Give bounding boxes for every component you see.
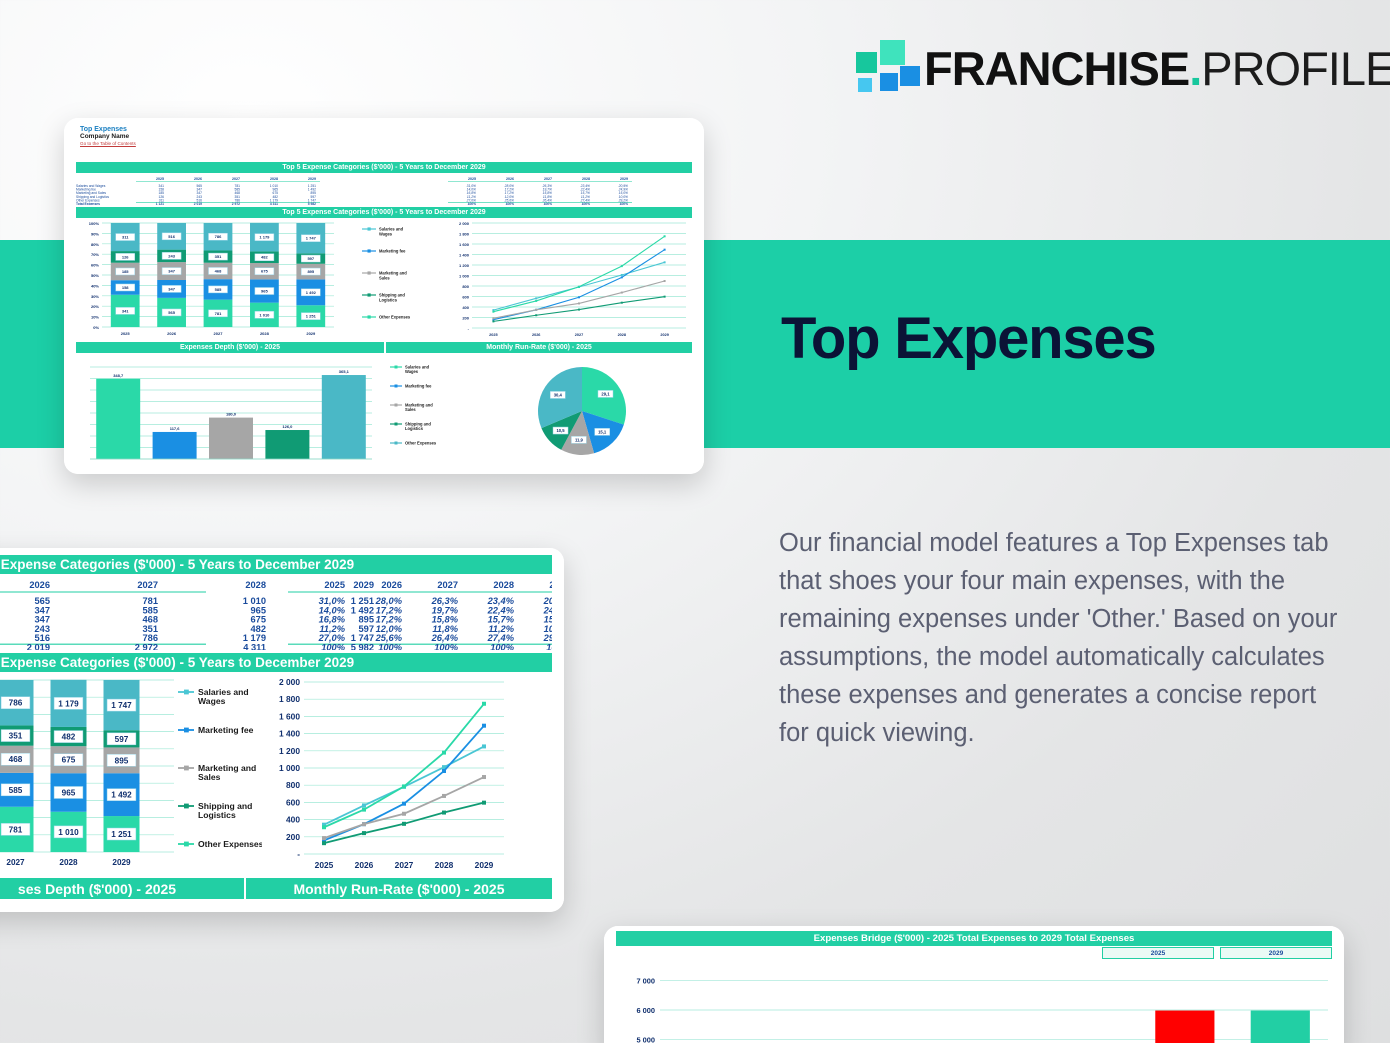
svg-text:2028: 2028 xyxy=(582,177,590,181)
bridge-legend-2025: 2025 xyxy=(1102,947,1214,959)
svg-text:482: 482 xyxy=(62,733,76,742)
svg-text:1 492: 1 492 xyxy=(111,791,132,800)
svg-text:2029: 2029 xyxy=(549,580,552,590)
svg-text:2028: 2028 xyxy=(618,333,626,337)
brand-logo: FRANCHISE.PROFILES xyxy=(852,38,1346,100)
svg-text:781: 781 xyxy=(215,311,222,316)
expense-table: 2026202720282029202520262027202820295657… xyxy=(0,576,552,650)
svg-text:70%: 70% xyxy=(91,252,99,257)
svg-text:1 179: 1 179 xyxy=(58,699,79,708)
svg-text:1 492: 1 492 xyxy=(306,290,317,295)
svg-text:6 000: 6 000 xyxy=(637,1006,656,1015)
svg-text:781: 781 xyxy=(9,825,23,834)
svg-text:2027: 2027 xyxy=(137,580,158,590)
svg-text:347: 347 xyxy=(168,268,175,273)
svg-text:786: 786 xyxy=(215,234,222,239)
svg-text:2025: 2025 xyxy=(156,177,164,181)
svg-text:Other Expenses: Other Expenses xyxy=(198,839,262,849)
svg-text:365,1: 365,1 xyxy=(339,369,350,374)
svg-text:Marketing fee: Marketing fee xyxy=(405,384,432,389)
stacked-bar-chart-mini: 0%10%20%30%40%50%60%70%80%90%100%3411581… xyxy=(76,219,336,339)
svg-text:2027: 2027 xyxy=(232,177,240,181)
svg-text:2027: 2027 xyxy=(575,333,583,337)
svg-text:2025: 2025 xyxy=(324,580,345,590)
svg-text:Logistics: Logistics xyxy=(405,426,424,431)
band-expense-categories-table: Top 5 Expense Categories ($'000) - 5 Yea… xyxy=(76,162,692,173)
svg-text:1 251: 1 251 xyxy=(111,830,132,839)
svg-text:2026: 2026 xyxy=(355,860,374,870)
svg-text:2026: 2026 xyxy=(29,580,50,590)
svg-text:341: 341 xyxy=(122,308,129,313)
svg-text:1 600: 1 600 xyxy=(459,242,470,247)
svg-text:100%: 100% xyxy=(321,643,345,651)
svg-text:348,7: 348,7 xyxy=(113,373,124,378)
svg-text:597: 597 xyxy=(115,735,129,744)
svg-text:2029: 2029 xyxy=(660,333,668,337)
hero-body-text: Our financial model features a Top Expen… xyxy=(779,524,1339,752)
svg-text:965: 965 xyxy=(62,788,76,797)
svg-text:185: 185 xyxy=(122,269,129,274)
svg-text:100%: 100% xyxy=(434,643,458,651)
logo-square-1 xyxy=(856,52,877,73)
hero-title-wrap: Top Expenses xyxy=(781,310,1301,368)
svg-text:786: 786 xyxy=(9,699,23,708)
svg-text:2027: 2027 xyxy=(544,177,552,181)
svg-text:895: 895 xyxy=(307,269,314,274)
svg-text:2 000: 2 000 xyxy=(279,677,300,687)
svg-text:100%: 100% xyxy=(544,202,553,205)
svg-text:117,6: 117,6 xyxy=(170,426,181,431)
svg-text:100%: 100% xyxy=(546,643,552,651)
svg-text:1 251: 1 251 xyxy=(306,314,317,319)
svg-text:516: 516 xyxy=(168,234,175,239)
svg-text:482: 482 xyxy=(261,255,268,260)
svg-text:4 311: 4 311 xyxy=(243,643,266,651)
svg-text:15,1: 15,1 xyxy=(598,429,607,434)
svg-text:2028: 2028 xyxy=(245,580,266,590)
svg-text:2 019: 2 019 xyxy=(27,643,50,651)
svg-text:0%: 0% xyxy=(93,325,99,330)
svg-text:200: 200 xyxy=(286,832,300,842)
svg-text:1 600: 1 600 xyxy=(279,711,300,721)
svg-text:1 010: 1 010 xyxy=(259,312,270,317)
band-b-expenses-depth: ses Depth ($'000) - 2025 xyxy=(0,878,244,899)
band-expenses-bridge: Expenses Bridge ($'000) - 2025 Total Exp… xyxy=(616,931,1332,946)
svg-text:5 982: 5 982 xyxy=(351,643,374,651)
svg-text:Wages: Wages xyxy=(379,231,393,236)
stacked-bar-chart: 565347347243516202678158546835178620271 … xyxy=(0,676,174,876)
svg-text:2025: 2025 xyxy=(489,333,497,337)
svg-text:2028: 2028 xyxy=(260,331,270,336)
svg-text:1 000: 1 000 xyxy=(279,763,300,773)
svg-text:2027: 2027 xyxy=(214,331,224,336)
svg-text:10,5: 10,5 xyxy=(556,428,565,433)
svg-text:100%: 100% xyxy=(506,202,515,205)
svg-text:400: 400 xyxy=(286,815,300,825)
svg-text:600: 600 xyxy=(286,797,300,807)
svg-text:585: 585 xyxy=(215,287,222,292)
svg-text:800: 800 xyxy=(462,284,469,289)
svg-text:2026: 2026 xyxy=(506,177,514,181)
svg-text:Total Expenses: Total Expenses xyxy=(76,202,100,205)
band-monthly-run-rate: Monthly Run-Rate ($'000) - 2025 xyxy=(386,342,692,353)
svg-text:468: 468 xyxy=(215,268,222,273)
svg-text:100%: 100% xyxy=(490,643,514,651)
svg-text:20%: 20% xyxy=(91,304,99,309)
svg-text:311: 311 xyxy=(122,234,129,239)
svg-text:Wages: Wages xyxy=(198,696,226,706)
sheet-title: Top Expenses xyxy=(80,126,136,133)
svg-text:10%: 10% xyxy=(91,315,99,320)
svg-text:597: 597 xyxy=(307,256,314,261)
svg-text:800: 800 xyxy=(286,780,300,790)
svg-text:100%: 100% xyxy=(468,202,477,205)
svg-text:600: 600 xyxy=(462,294,469,299)
svg-text:100%: 100% xyxy=(89,221,100,226)
svg-text:2025: 2025 xyxy=(121,331,131,336)
svg-text:400: 400 xyxy=(462,305,469,310)
svg-text:-: - xyxy=(297,849,300,859)
svg-text:Logistics: Logistics xyxy=(198,810,236,820)
svg-text:30,4: 30,4 xyxy=(554,392,563,397)
svg-text:1 200: 1 200 xyxy=(279,746,300,756)
band-b-chart: Top 5 Expense Categories ($'000) - 5 Yea… xyxy=(0,653,552,672)
logo-mark-icon xyxy=(852,40,910,96)
svg-text:100%: 100% xyxy=(582,202,591,205)
svg-text:585: 585 xyxy=(9,786,23,795)
svg-text:4 311: 4 311 xyxy=(270,202,278,205)
svg-text:Wages: Wages xyxy=(405,369,419,374)
svg-text:2029: 2029 xyxy=(306,331,316,336)
svg-text:2029: 2029 xyxy=(308,177,316,181)
svg-text:-: - xyxy=(468,326,470,331)
svg-text:1 800: 1 800 xyxy=(459,231,470,236)
mini-expense-table: 2025202620272028202920252026202720282029… xyxy=(76,175,692,205)
sheet-header: Top Expenses Company Name Go to the Tabl… xyxy=(80,126,136,146)
svg-text:2026: 2026 xyxy=(532,333,540,337)
logo-wordmark: FRANCHISE.PROFILES xyxy=(924,38,1390,100)
svg-text:351: 351 xyxy=(9,732,23,741)
svg-text:675: 675 xyxy=(261,269,268,274)
svg-text:158: 158 xyxy=(122,285,129,290)
svg-text:2029: 2029 xyxy=(620,177,628,181)
page-title: Top Expenses xyxy=(781,310,1301,368)
svg-text:2 972: 2 972 xyxy=(232,202,240,205)
svg-text:351: 351 xyxy=(215,254,222,259)
logo-word-light: PROFILES xyxy=(1201,42,1390,95)
svg-text:80%: 80% xyxy=(91,242,99,247)
svg-text:2028: 2028 xyxy=(59,858,78,867)
svg-text:2029: 2029 xyxy=(112,858,131,867)
svg-text:1 179: 1 179 xyxy=(259,235,270,240)
svg-text:Other Expenses: Other Expenses xyxy=(405,441,437,446)
svg-text:1 400: 1 400 xyxy=(279,729,300,739)
svg-text:1 800: 1 800 xyxy=(279,694,300,704)
svg-text:2025: 2025 xyxy=(468,177,476,181)
chart-legend: Salaries andWagesMarketing feeMarketing … xyxy=(176,676,262,876)
screenshot-card-top-expenses[interactable]: Top Expenses Company Name Go to the Tabl… xyxy=(64,118,704,474)
svg-text:2027: 2027 xyxy=(395,860,414,870)
screenshot-card-expense-categories[interactable]: Top 5 Expense Categories ($'000) - 5 Yea… xyxy=(0,548,564,912)
svg-text:Sales: Sales xyxy=(198,772,221,782)
svg-text:565: 565 xyxy=(168,310,175,315)
svg-text:29,1: 29,1 xyxy=(601,391,610,396)
line-chart-mini: Salaries andWagesMarketing feeMarketing … xyxy=(360,219,690,339)
logo-square-4 xyxy=(900,66,920,86)
svg-text:2026: 2026 xyxy=(381,580,402,590)
svg-text:Logistics: Logistics xyxy=(379,297,398,302)
svg-text:1 000: 1 000 xyxy=(459,273,470,278)
svg-text:2025: 2025 xyxy=(315,860,334,870)
svg-text:50%: 50% xyxy=(91,273,99,278)
svg-text:2 972: 2 972 xyxy=(135,643,158,651)
svg-text:2027: 2027 xyxy=(437,580,458,590)
band-b-table: Top 5 Expense Categories ($'000) - 5 Yea… xyxy=(0,555,552,574)
svg-text:468: 468 xyxy=(9,755,23,764)
bridge-legend: 20252029 xyxy=(1102,947,1332,959)
svg-text:40%: 40% xyxy=(91,283,99,288)
svg-text:1 121: 1 121 xyxy=(156,202,164,205)
svg-text:2028: 2028 xyxy=(435,860,454,870)
screenshot-card-expenses-bridge[interactable]: Expenses Bridge ($'000) - 2025 Total Exp… xyxy=(604,926,1344,1043)
logo-square-3 xyxy=(880,73,898,91)
svg-text:2028: 2028 xyxy=(493,580,514,590)
monthly-run-rate-pie-chart: Salaries andWagesMarketing feeMarketing … xyxy=(386,355,692,465)
svg-text:2026: 2026 xyxy=(167,331,177,336)
svg-text:Marketing fee: Marketing fee xyxy=(379,249,406,254)
svg-text:126: 126 xyxy=(122,254,129,259)
svg-text:2028: 2028 xyxy=(270,177,278,181)
svg-text:Sales: Sales xyxy=(379,275,390,280)
svg-text:200: 200 xyxy=(462,315,469,320)
bridge-legend-2029: 2029 xyxy=(1220,947,1332,959)
svg-text:5 000: 5 000 xyxy=(637,1035,656,1043)
svg-text:2029: 2029 xyxy=(353,580,374,590)
band-expenses-depth: Expenses Depth ($'000) - 2025 xyxy=(76,342,384,353)
expenses-bridge-waterfall: 5 0006 0007 0001 443 xyxy=(616,962,1332,1043)
svg-text:2029: 2029 xyxy=(475,860,494,870)
logo-word-strong: FRANCHISE xyxy=(924,42,1189,95)
band-b-monthly-run-rate: Monthly Run-Rate ($'000) - 2025 xyxy=(246,878,552,899)
svg-text:2 019: 2 019 xyxy=(194,202,202,205)
svg-text:Marketing fee: Marketing fee xyxy=(198,725,254,735)
svg-text:1 200: 1 200 xyxy=(459,263,470,268)
svg-text:180,0: 180,0 xyxy=(226,412,237,417)
svg-text:1 400: 1 400 xyxy=(459,252,470,257)
logo-square-5 xyxy=(858,78,872,92)
svg-text:60%: 60% xyxy=(91,263,99,268)
sheet-subtitle: Company Name xyxy=(80,133,136,140)
svg-text:7 000: 7 000 xyxy=(637,977,656,986)
logo-square-2 xyxy=(880,40,905,65)
logo-dot: . xyxy=(1189,42,1201,95)
svg-text:1 747: 1 747 xyxy=(111,701,132,710)
band-expense-categories-chart: Top 5 Expense Categories ($'000) - 5 Yea… xyxy=(76,207,692,218)
table-of-contents-link[interactable]: Go to the Table of Contents xyxy=(80,141,136,146)
svg-text:1 747: 1 747 xyxy=(306,236,317,241)
svg-text:347: 347 xyxy=(168,286,175,291)
svg-text:90%: 90% xyxy=(91,231,99,236)
svg-text:965: 965 xyxy=(261,288,268,293)
svg-text:2026: 2026 xyxy=(194,177,202,181)
svg-text:Other Expenses: Other Expenses xyxy=(379,315,411,320)
svg-text:2 000: 2 000 xyxy=(459,221,470,226)
svg-text:5 982: 5 982 xyxy=(308,202,316,205)
svg-text:126,0: 126,0 xyxy=(282,424,293,429)
svg-text:100%: 100% xyxy=(378,643,402,651)
svg-text:2027: 2027 xyxy=(6,858,25,867)
svg-text:11,9: 11,9 xyxy=(575,437,584,442)
svg-text:1 010: 1 010 xyxy=(58,828,79,837)
expenses-depth-bar-chart: 348,7117,6180,0126,0365,1 xyxy=(76,355,376,465)
svg-text:675: 675 xyxy=(62,756,76,765)
trend-line-chart: -2004006008001 0001 2001 4001 6001 8002 … xyxy=(260,676,510,876)
svg-text:895: 895 xyxy=(115,756,129,765)
svg-text:Sales: Sales xyxy=(405,407,416,412)
svg-text:30%: 30% xyxy=(91,294,99,299)
svg-text:100%: 100% xyxy=(620,202,629,205)
svg-text:243: 243 xyxy=(168,253,175,258)
